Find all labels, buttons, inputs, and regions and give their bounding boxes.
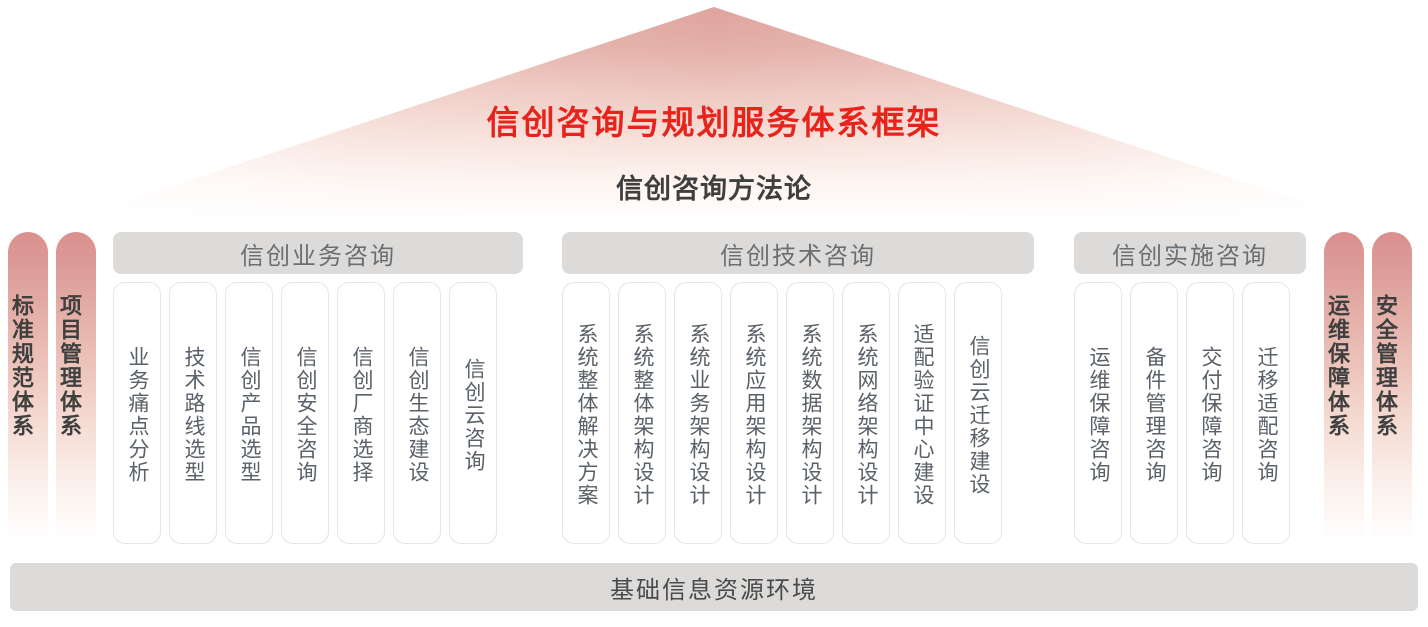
diagram-canvas: 信创咨询与规划服务体系框架 信创咨询方法论 标准规范体系 项目管理体系 运维保障… [0, 0, 1428, 627]
service-card-label: 信创生态建设 [404, 346, 430, 484]
service-card-label: 信创安全咨询 [292, 346, 318, 484]
group-header: 信创实施咨询 [1074, 232, 1306, 274]
service-card[interactable]: 业务痛点分析 [113, 282, 161, 544]
service-card-label: 适配验证中心建设 [909, 323, 935, 507]
service-card-label: 备件管理咨询 [1141, 346, 1167, 484]
service-card[interactable]: 迁移适配咨询 [1242, 282, 1290, 544]
service-card-label: 信创云迁移建设 [965, 335, 991, 496]
service-card[interactable]: 适配验证中心建设 [898, 282, 946, 544]
service-card[interactable]: 系统网络架构设计 [842, 282, 890, 544]
service-card[interactable]: 信创生态建设 [393, 282, 441, 544]
service-card[interactable]: 系统业务架构设计 [674, 282, 722, 544]
service-card[interactable]: 信创产品选型 [225, 282, 273, 544]
service-card-label: 业务痛点分析 [124, 346, 150, 484]
service-card-label: 迁移适配咨询 [1253, 346, 1279, 484]
pillar-label: 标准规范体系 [15, 294, 41, 438]
group-card-list: 系统整体解决方案 系统整体架构设计 系统业务架构设计 系统应用架构设计 系统数据… [562, 282, 1002, 544]
group-technology-consulting: 信创技术咨询 系统整体解决方案 系统整体架构设计 系统业务架构设计 系统应用架构… [562, 232, 1034, 274]
service-card[interactable]: 系统数据架构设计 [786, 282, 834, 544]
group-card-list: 业务痛点分析 技术路线选型 信创产品选型 信创安全咨询 信创厂商选择 信创生态建… [113, 282, 497, 544]
service-card[interactable]: 信创云咨询 [449, 282, 497, 544]
service-card-label: 信创厂商选择 [348, 346, 374, 484]
foundation-bar: 基础信息资源环境 [10, 563, 1418, 611]
service-card[interactable]: 系统整体解决方案 [562, 282, 610, 544]
group-implementation-consulting: 信创实施咨询 运维保障咨询 备件管理咨询 交付保障咨询 迁移适配咨询 [1074, 232, 1306, 274]
service-card-label: 技术路线选型 [180, 346, 206, 484]
service-card-label: 信创云咨询 [460, 358, 486, 473]
service-card-label: 信创产品选型 [236, 346, 262, 484]
service-card[interactable]: 信创云迁移建设 [954, 282, 1002, 544]
service-card[interactable]: 交付保障咨询 [1186, 282, 1234, 544]
service-card-label: 运维保障咨询 [1085, 346, 1111, 484]
page-subtitle: 信创咨询方法论 [0, 167, 1428, 206]
service-card[interactable]: 系统整体架构设计 [618, 282, 666, 544]
service-card[interactable]: 备件管理咨询 [1130, 282, 1178, 544]
group-header: 信创业务咨询 [113, 232, 523, 274]
service-card[interactable]: 技术路线选型 [169, 282, 217, 544]
pillar-label: 项目管理体系 [63, 294, 89, 438]
service-card-label: 系统业务架构设计 [685, 323, 711, 507]
pillar-label: 运维保障体系 [1331, 294, 1357, 438]
pillar-label: 安全管理体系 [1379, 294, 1405, 438]
service-card[interactable]: 信创厂商选择 [337, 282, 385, 544]
pillar-standard-spec: 标准规范体系 [8, 232, 48, 554]
service-card-label: 系统数据架构设计 [797, 323, 823, 507]
service-card[interactable]: 系统应用架构设计 [730, 282, 778, 544]
service-card-label: 系统网络架构设计 [853, 323, 879, 507]
service-card-label: 系统整体解决方案 [573, 323, 599, 507]
foundation-label: 基础信息资源环境 [610, 570, 818, 605]
pillar-security-management: 安全管理体系 [1372, 232, 1412, 554]
page-title: 信创咨询与规划服务体系框架 [0, 96, 1428, 144]
service-card-label: 交付保障咨询 [1197, 346, 1223, 484]
group-card-list: 运维保障咨询 备件管理咨询 交付保障咨询 迁移适配咨询 [1074, 282, 1290, 544]
service-card-label: 系统应用架构设计 [741, 323, 767, 507]
service-card[interactable]: 运维保障咨询 [1074, 282, 1122, 544]
group-header: 信创技术咨询 [562, 232, 1034, 274]
service-card-label: 系统整体架构设计 [629, 323, 655, 507]
pillar-ops-guarantee: 运维保障体系 [1324, 232, 1364, 554]
pillar-project-management: 项目管理体系 [56, 232, 96, 554]
group-business-consulting: 信创业务咨询 业务痛点分析 技术路线选型 信创产品选型 信创安全咨询 信创厂商选… [113, 232, 523, 274]
service-card[interactable]: 信创安全咨询 [281, 282, 329, 544]
